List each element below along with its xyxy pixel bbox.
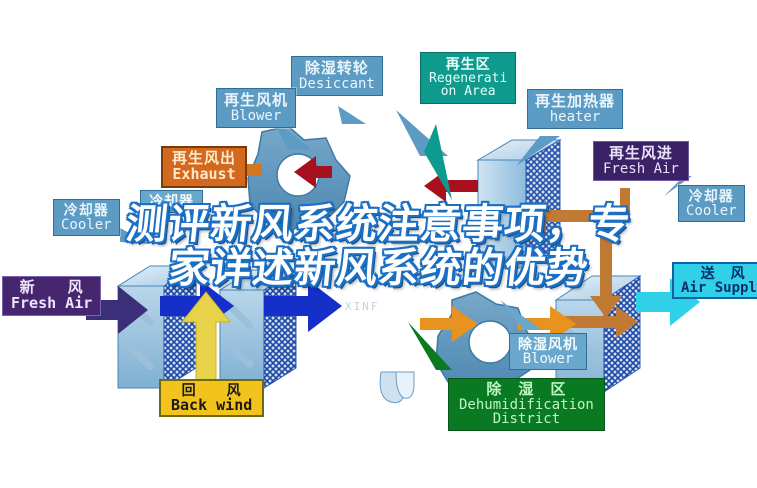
label-desiccant: 除湿转轮 Desiccant [291, 56, 383, 96]
label-regen-heater: 再生加热器 heater [527, 89, 623, 129]
label-regeneration-area: 再生区 Regenerati on Area [420, 52, 516, 104]
label-regen-blower: 再生风机 Blower [216, 88, 296, 128]
label-cooler-mid: 冷却器 [140, 190, 203, 213]
label-regen-fresh-air: 再生风进 Fresh Air [593, 141, 689, 181]
regeneration-heater-graphic [478, 140, 560, 268]
label-back-wind: 回 风 Back wind [159, 379, 264, 417]
label-cooler-right: 冷却器 Cooler [678, 185, 745, 222]
diagram-canvas: XINF 除湿转轮 Desiccant 再生风机 Blower 再生区 Rege… [0, 0, 757, 488]
label-cooler-left: 冷却器 Cooler [53, 199, 120, 236]
label-air-supply: 送 风 Air Supply [672, 262, 757, 299]
cooler-box-2-graphic [220, 270, 296, 388]
label-dehum-blower: 除湿风机 Blower [509, 333, 587, 370]
label-fresh-air-inlet: 新 风 Fresh Air [2, 276, 101, 316]
condensate-drip-graphic [380, 372, 414, 403]
label-dehumidification-district: 除 湿 区 Dehumidification District [448, 378, 605, 431]
label-exhaust: 再生风出 Exhaust [161, 146, 247, 188]
rotor-watermark: XINF [345, 300, 380, 313]
cooler-box-1-graphic [118, 266, 196, 388]
